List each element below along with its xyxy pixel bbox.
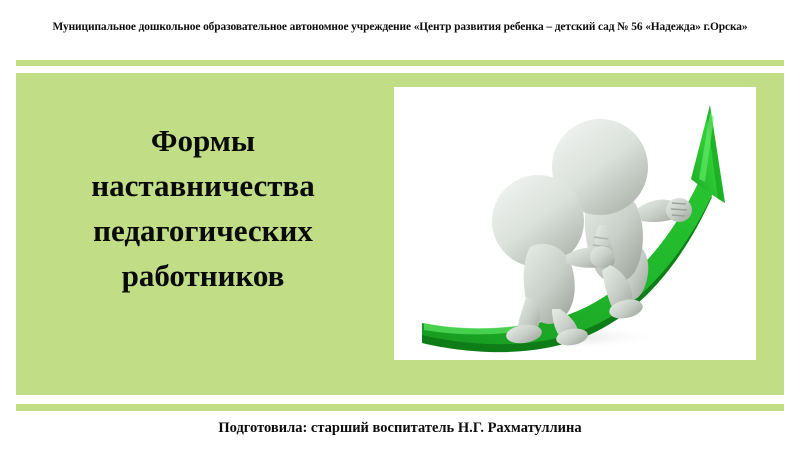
slide-title-line-3: педагогических (28, 208, 378, 253)
author-credit: Подготовила: старший воспитатель Н.Г. Ра… (60, 418, 740, 438)
illustration-frame (394, 87, 756, 360)
bottom-accent-bar (16, 404, 784, 411)
institution-header-line-2: «Надежда» г.Орска» (645, 21, 747, 33)
institution-header-line-1: Муниципальное дошкольное образовательное… (53, 21, 643, 33)
follower-hand (590, 246, 614, 268)
slide-title: Формы наставничества педагогических рабо… (28, 118, 378, 298)
top-accent-bar (16, 60, 784, 66)
slide-title-line-2: наставничества (28, 163, 378, 208)
mentoring-illustration-icon (394, 87, 756, 360)
slide-canvas: Муниципальное дошкольное образовательное… (0, 0, 800, 450)
slide-title-line-1: Формы (28, 118, 378, 163)
slide-title-line-4: работников (28, 253, 378, 298)
institution-header: Муниципальное дошкольное образовательное… (40, 19, 760, 36)
